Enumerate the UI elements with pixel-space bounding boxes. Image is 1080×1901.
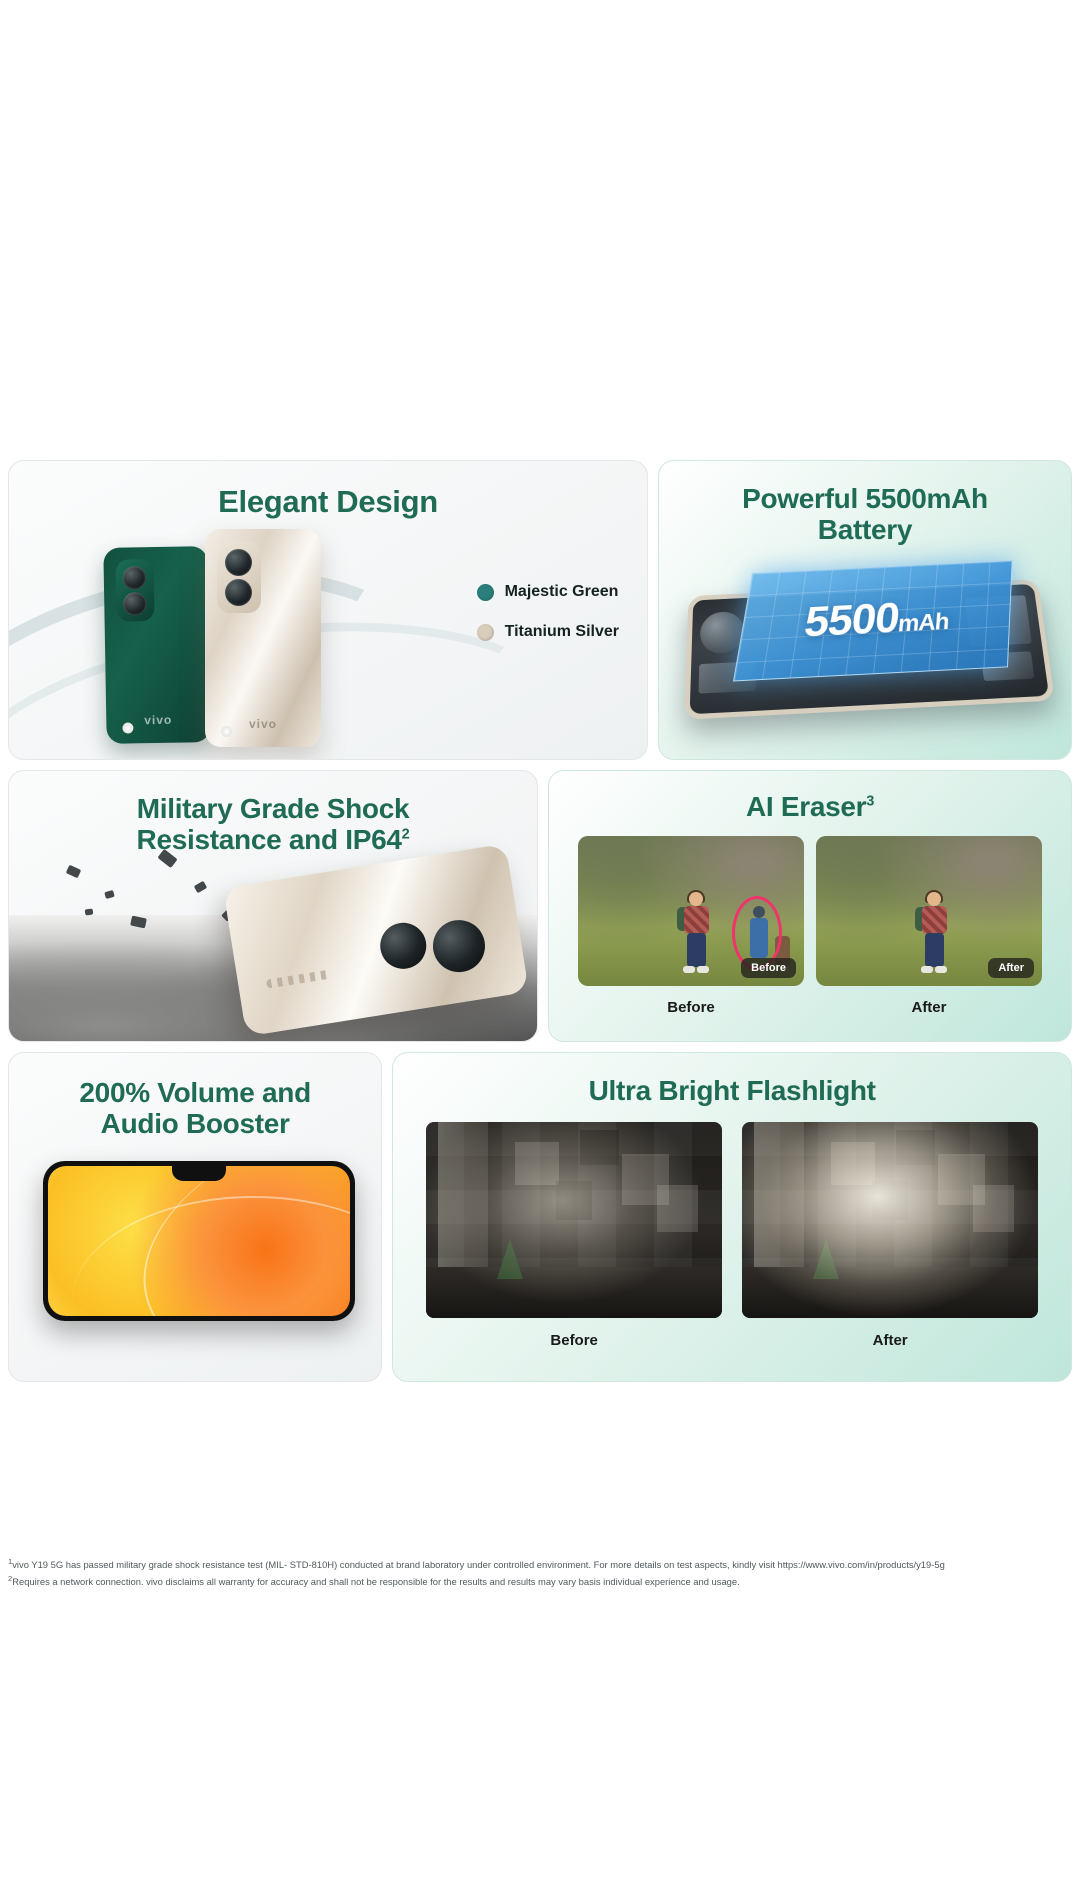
color-option-label: Titanium Silver	[505, 623, 619, 641]
phone-landscape-display	[43, 1161, 355, 1321]
hiker-subject	[917, 892, 951, 972]
camera-lens-secondary-icon	[377, 919, 430, 972]
card-volume-booster-title-line2: Audio Booster	[9, 1108, 381, 1139]
card-battery-title-line2: Battery	[659, 514, 1071, 545]
shoe-right	[697, 966, 709, 973]
card-ai-eraser-title: AI Eraser3	[549, 791, 1071, 822]
vivo-logo: vivo	[249, 717, 277, 731]
head	[689, 892, 703, 906]
flashlight-after-caption: After	[742, 1332, 1038, 1349]
ai-eraser-after-caption: After	[816, 999, 1042, 1016]
camera-lens-primary-icon	[225, 549, 252, 576]
card-military-grade-title-line1: Military Grade Shock	[9, 793, 537, 824]
flashlight-before-photo[interactable]	[426, 1122, 722, 1318]
flashlight-after-item: After	[742, 1122, 1038, 1349]
speaker-component	[700, 611, 744, 655]
card-elegant-design-title: Elegant Design	[9, 485, 647, 520]
footnotes: 1vivo Y19 5G has passed military grade s…	[8, 1556, 1072, 1589]
card-volume-booster[interactable]: 200% Volume and Audio Booster	[8, 1052, 382, 1382]
card-flashlight-title: Ultra Bright Flashlight	[393, 1075, 1071, 1106]
head	[927, 892, 941, 906]
card-military-grade[interactable]: Military Grade Shock Resistance and IP64…	[8, 770, 538, 1042]
camera-lens-primary-icon	[429, 916, 488, 975]
shoe-right	[935, 966, 947, 973]
footnote-2: 2Requires a network connection. vivo dis…	[8, 1573, 1072, 1590]
flashlight-illumination	[742, 1122, 1038, 1318]
ai-eraser-comparison: Before Before	[549, 836, 1071, 1016]
camera-lens-secondary-icon	[225, 579, 252, 606]
debris-fragment	[104, 890, 115, 899]
card-volume-booster-title-line1: 200% Volume and	[9, 1077, 381, 1108]
feature-row-3: 200% Volume and Audio Booster Ultra Brig…	[8, 1052, 1072, 1382]
shoe-left	[683, 966, 695, 973]
shoe-left	[921, 966, 933, 973]
legs	[687, 933, 706, 967]
camera-lens-primary-icon	[123, 566, 146, 589]
footnote-marker: 2	[402, 827, 410, 843]
ai-eraser-before-photo[interactable]: Before	[578, 836, 804, 986]
battery-stage: 5500mAh	[659, 557, 1072, 760]
debris-fragment	[66, 865, 82, 879]
color-swatch-icon	[477, 624, 494, 641]
phone-majestic-green: vivo	[103, 546, 210, 744]
card-volume-booster-title: 200% Volume and Audio Booster	[9, 1077, 381, 1140]
ai-eraser-after-photo[interactable]: After	[816, 836, 1042, 986]
debris-fragment	[85, 908, 94, 915]
footnote-1: 1vivo Y19 5G has passed military grade s…	[8, 1556, 1072, 1573]
feature-board: Elegant Design vivo	[0, 460, 1080, 1545]
card-battery-title-line1: Powerful 5500mAh	[659, 483, 1071, 514]
debris-fragment	[194, 881, 208, 893]
color-option-legend: Majestic Green Titanium Silver	[477, 583, 619, 663]
flashlight-after-photo[interactable]	[742, 1122, 1038, 1318]
ai-eraser-before-item: Before Before	[578, 836, 804, 1016]
speaker-grille-icon	[266, 969, 333, 988]
ai-eraser-after-item: After After	[816, 836, 1042, 1016]
camera-flash-icon	[221, 726, 232, 737]
color-option-label: Majestic Green	[505, 583, 619, 601]
color-option-titanium-silver[interactable]: Titanium Silver	[477, 623, 619, 641]
feature-row-1: Elegant Design vivo	[8, 460, 1072, 760]
phone-titanium-silver: vivo	[205, 529, 321, 747]
camera-island	[217, 541, 261, 613]
card-ai-eraser[interactable]: AI Eraser3	[548, 770, 1072, 1042]
elegant-design-stage: vivo vivo Majestic Green	[9, 519, 648, 760]
card-flashlight[interactable]: Ultra Bright Flashlight	[392, 1052, 1072, 1382]
color-option-majestic-green[interactable]: Majestic Green	[477, 583, 619, 601]
battery-capacity-label: 5500mAh	[801, 592, 950, 647]
phone-wallpaper	[48, 1166, 350, 1316]
ai-eraser-after-badge: After	[988, 958, 1034, 978]
card-elegant-design[interactable]: Elegant Design vivo	[8, 460, 648, 760]
flashlight-before-caption: Before	[426, 1332, 722, 1349]
card-battery-title: Powerful 5500mAh Battery	[659, 483, 1071, 546]
hiker-subject	[679, 892, 713, 972]
camera-flash-icon	[122, 722, 133, 733]
card-military-grade-title: Military Grade Shock Resistance and IP64…	[9, 793, 537, 856]
legs	[925, 933, 944, 967]
display-notch	[172, 1166, 226, 1181]
flashlight-comparison: Before After	[393, 1122, 1071, 1349]
ai-eraser-before-caption: Before	[578, 999, 804, 1016]
feature-row-2: Military Grade Shock Resistance and IP64…	[8, 770, 1072, 1042]
vivo-logo: vivo	[144, 713, 172, 727]
torso	[684, 906, 709, 934]
ai-eraser-before-badge: Before	[741, 958, 796, 978]
torso	[922, 906, 947, 934]
footnote-marker: 3	[866, 794, 874, 810]
card-battery[interactable]: Powerful 5500mAh Battery 5500mAh	[658, 460, 1072, 760]
flashlight-illumination	[426, 1122, 722, 1318]
camera-island	[116, 559, 155, 622]
color-swatch-icon	[477, 584, 494, 601]
flashlight-before-item: Before	[426, 1122, 722, 1349]
camera-lens-secondary-icon	[123, 592, 146, 615]
battery-pack-graphic: 5500mAh	[733, 560, 1013, 681]
